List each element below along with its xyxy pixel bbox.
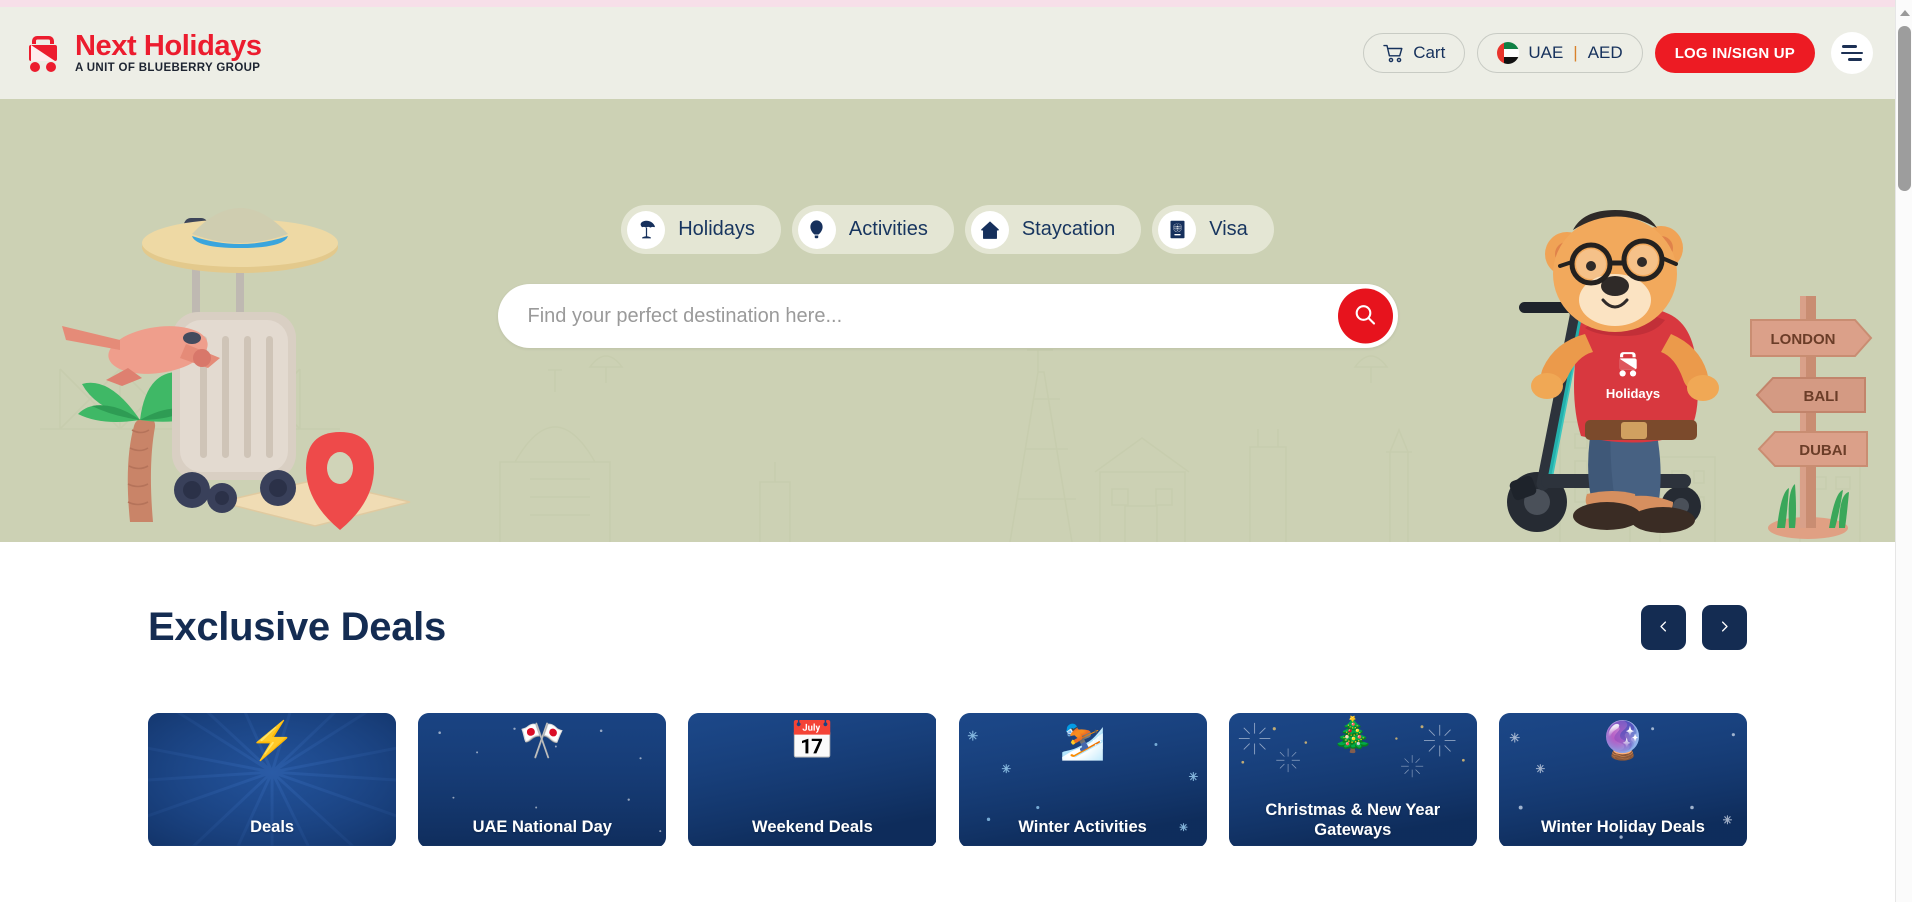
region-separator: | xyxy=(1572,43,1578,63)
tab-holidays[interactable]: Holidays xyxy=(621,205,781,254)
region-currency: AED xyxy=(1588,43,1623,63)
calendar-sun-icon: 📅 xyxy=(688,722,936,759)
beach-umbrella-icon xyxy=(627,211,665,249)
carousel-nav xyxy=(1641,605,1747,650)
page-content: Next Holidays A UNIT OF BLUEBERRY GROUP … xyxy=(0,0,1895,902)
deal-card-label: UAE National Day xyxy=(465,817,620,837)
exclusive-deals-section: Exclusive Deals xyxy=(0,542,1895,848)
tab-label: Staycation xyxy=(1022,218,1115,241)
search-icon xyxy=(1353,303,1377,330)
deal-card-winter-holiday-deals[interactable]: 🔮 Winter Holiday Deals xyxy=(1499,713,1747,848)
deal-card-label: Deals xyxy=(242,817,302,837)
tab-label: Visa xyxy=(1209,218,1248,241)
tab-label: Holidays xyxy=(678,218,755,241)
shopping-cart-icon xyxy=(1383,44,1404,63)
wreath-icon: 🎄 xyxy=(1229,718,1477,752)
region-country: UAE xyxy=(1528,43,1563,63)
uae-flag-icon xyxy=(1497,42,1519,64)
brand-logo[interactable]: Next Holidays A UNIT OF BLUEBERRY GROUP xyxy=(26,32,262,75)
login-signup-button[interactable]: LOG IN/SIGN UP xyxy=(1655,33,1815,73)
chevron-right-icon xyxy=(1717,619,1732,637)
cart-label: Cart xyxy=(1413,43,1445,63)
svg-text:BALI: BALI xyxy=(1804,388,1839,405)
cart-button[interactable]: Cart xyxy=(1363,33,1465,73)
scrollbar-up-arrow-icon[interactable] xyxy=(1896,4,1912,21)
tab-label: Activities xyxy=(849,218,928,241)
next-holidays-luggage-logo-icon xyxy=(26,32,64,74)
deals-header: Exclusive Deals xyxy=(148,542,1747,713)
deal-card-christmas-new-year[interactable]: 🎄 Christmas & New Year Gateways xyxy=(1229,713,1477,848)
category-tabs: Holidays Activities xyxy=(621,205,1274,254)
hamburger-menu-icon[interactable] xyxy=(1831,32,1873,74)
hero-search-area: Holidays Activities xyxy=(0,205,1895,348)
deal-card-label: Winter Activities xyxy=(1010,817,1155,837)
passport-globe-icon xyxy=(1158,211,1196,249)
hot-air-balloon-icon xyxy=(798,211,836,249)
destination-search xyxy=(498,284,1398,348)
carousel-next-button[interactable] xyxy=(1702,605,1747,650)
tab-visa[interactable]: Visa xyxy=(1152,205,1274,254)
header-actions: Cart UAE | AED LOG IN/SIGN UP xyxy=(1363,32,1873,74)
crossed-flags-icon: 🎌 xyxy=(418,722,666,759)
search-input[interactable] xyxy=(498,284,1398,348)
search-button[interactable] xyxy=(1338,289,1393,344)
svg-text:DUBAI: DUBAI xyxy=(1799,442,1847,459)
deal-card-weekend-deals[interactable]: 📅 Weekend Deals xyxy=(688,713,936,848)
home-icon xyxy=(971,211,1009,249)
deal-card-deals[interactable]: ⚡ Deals xyxy=(148,713,396,848)
vertical-scrollbar[interactable] xyxy=(1895,0,1912,902)
deal-card-uae-national-day[interactable]: 🎌 UAE National Day xyxy=(418,713,666,848)
top-accent-strip xyxy=(0,0,1895,7)
carousel-prev-button[interactable] xyxy=(1641,605,1686,650)
deal-card-label: Christmas & New Year Gateways xyxy=(1229,800,1477,840)
region-currency-selector[interactable]: UAE | AED xyxy=(1477,33,1642,73)
scrollbar-thumb[interactable] xyxy=(1898,26,1911,191)
chevron-left-icon xyxy=(1656,619,1671,637)
svg-text:Holidays: Holidays xyxy=(1606,386,1660,401)
page-title: Exclusive Deals xyxy=(148,605,446,650)
lightning-bolt-icon: ⚡ xyxy=(148,722,396,759)
deal-card-label: Winter Holiday Deals xyxy=(1533,817,1713,837)
deal-card-winter-activities[interactable]: ⛷️ Winter Activities xyxy=(959,713,1207,848)
brand-name: Next Holidays xyxy=(75,32,262,61)
snow-globe-icon: 🔮 xyxy=(1499,722,1747,759)
skier-icon: ⛷️ xyxy=(959,722,1207,759)
browser-viewport: Next Holidays A UNIT OF BLUEBERRY GROUP … xyxy=(0,0,1912,902)
tab-activities[interactable]: Activities xyxy=(792,205,954,254)
deal-cards-carousel: ⚡ Deals xyxy=(148,713,1747,848)
hero-banner: Holidays xyxy=(0,99,1895,542)
tab-staycation[interactable]: Staycation xyxy=(965,205,1141,254)
deal-card-label: Weekend Deals xyxy=(744,817,881,837)
site-header: Next Holidays A UNIT OF BLUEBERRY GROUP … xyxy=(0,7,1895,99)
brand-tagline: A UNIT OF BLUEBERRY GROUP xyxy=(75,63,262,75)
